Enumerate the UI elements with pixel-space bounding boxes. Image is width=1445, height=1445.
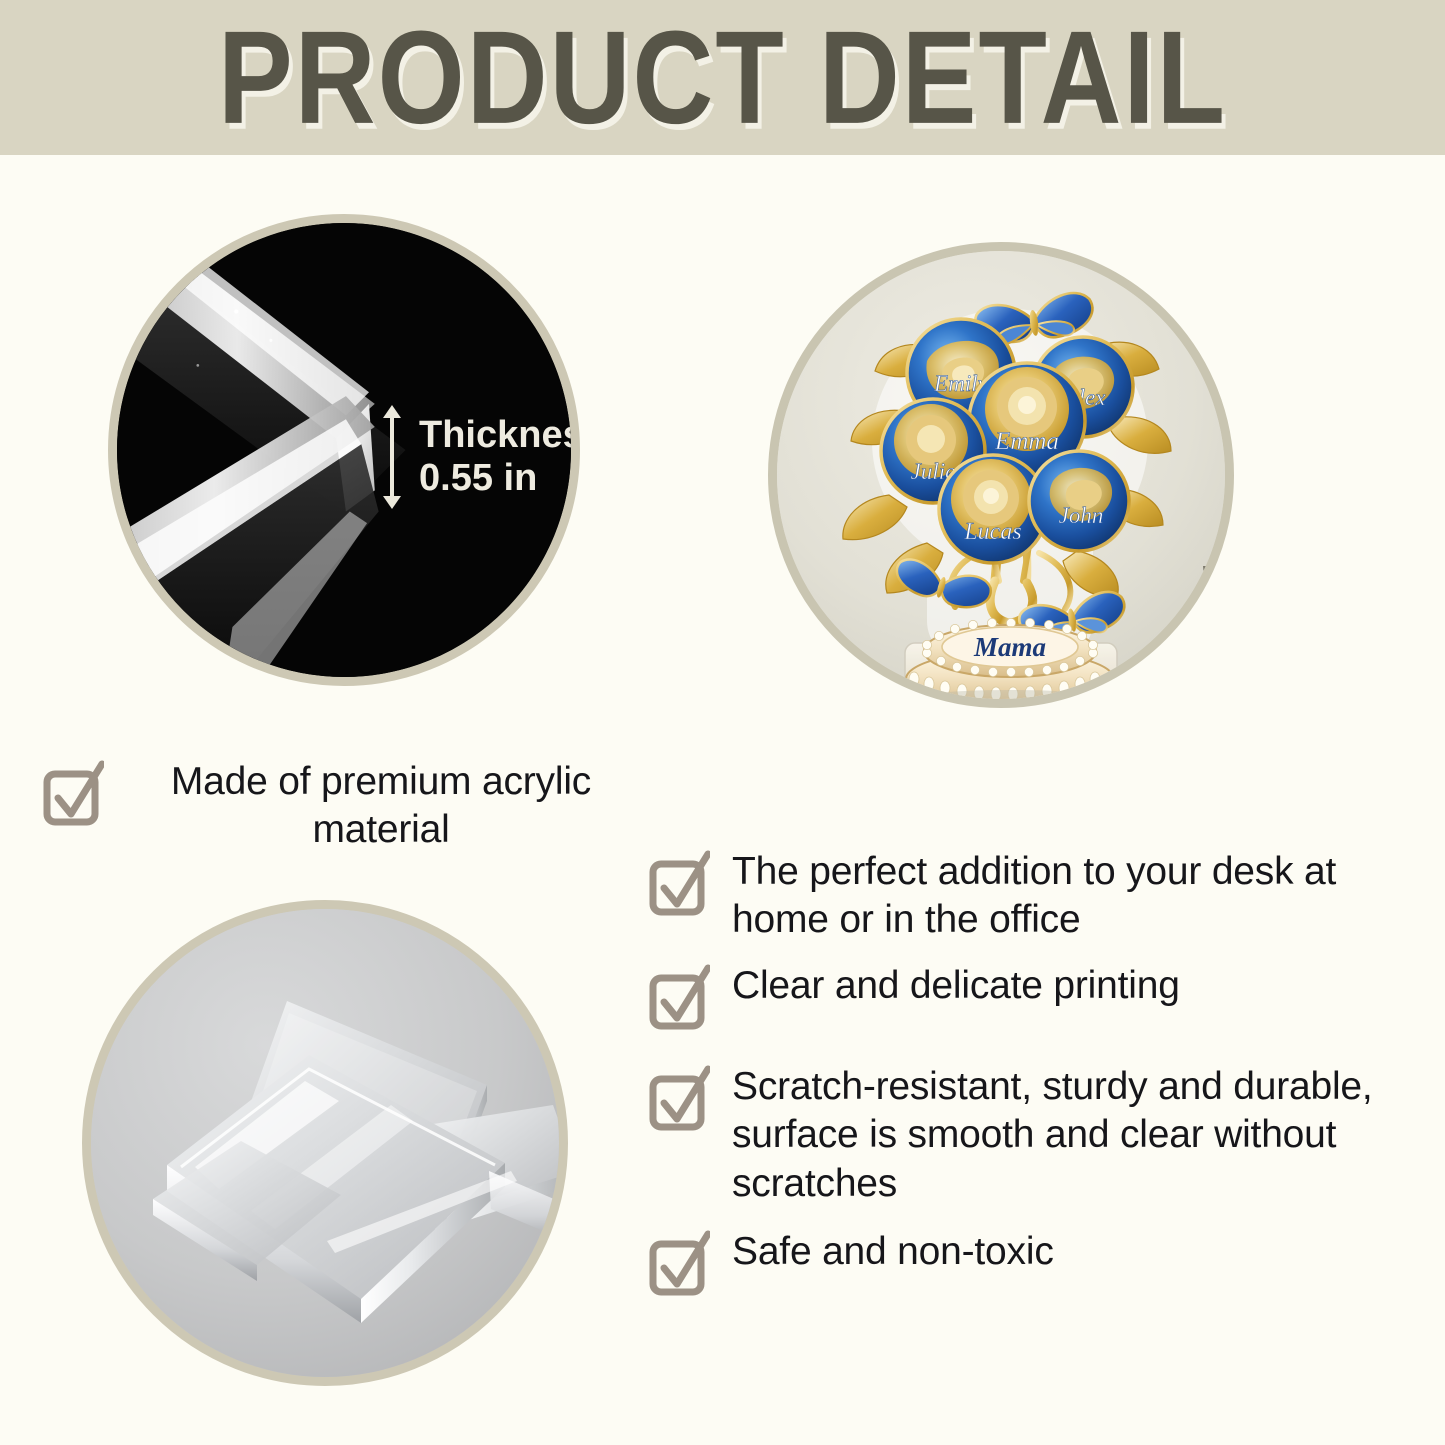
rose-name-lucas: Lucas (963, 519, 1021, 545)
product-photo: Emily Alex Emma Julie (768, 242, 1234, 708)
base-name-mama: Mama (973, 632, 1046, 662)
page-title: PRODUCT DETAIL (218, 11, 1227, 143)
thickness-callout: Thickness 0.55 in (379, 405, 580, 509)
header-band: PRODUCT DETAIL (0, 0, 1445, 155)
thickness-arrow-icon (379, 405, 405, 509)
bullet-item-printing: Clear and delicate printing (648, 962, 1418, 1034)
bullet-label-printing: Clear and delicate printing (732, 962, 1180, 1010)
rose-name-john: John (1059, 503, 1104, 528)
acrylic-sheets-photo (82, 900, 568, 1386)
bullet-item-desk: The perfect addition to your desk at hom… (648, 848, 1418, 945)
bullet-item-scratch: Scratch-resistant, sturdy and durable, s… (648, 1063, 1418, 1208)
thickness-label-line2: 0.55 in (419, 457, 580, 500)
plaque-edge-notch (1203, 566, 1217, 608)
bullet-label-desk: The perfect addition to your desk at hom… (732, 848, 1418, 945)
check-box-icon (648, 964, 710, 1034)
thickness-label-line1: Thickness (419, 414, 580, 457)
bullet-label-safe: Safe and non-toxic (732, 1228, 1054, 1276)
acrylic-sheets-illustration (91, 909, 568, 1386)
bullet-item-safe: Safe and non-toxic (648, 1228, 1418, 1300)
check-box-icon (42, 760, 104, 830)
check-box-icon (648, 1065, 710, 1135)
check-box-icon (648, 1230, 710, 1300)
bullet-item-material: Made of premium acrylic material (42, 758, 662, 855)
check-box-icon (648, 850, 710, 920)
thickness-label: Thickness 0.55 in (419, 414, 580, 499)
bullet-label-material: Made of premium acrylic material (126, 758, 636, 855)
rose-name-emma: Emma (994, 428, 1059, 455)
rose-john: John (1029, 451, 1129, 551)
thickness-closeup-photo: Thickness 0.55 in (108, 214, 580, 686)
rose-plaque-illustration: Emily Alex Emma Julie (777, 251, 1234, 708)
bullet-label-scratch: Scratch-resistant, sturdy and durable, s… (732, 1063, 1418, 1208)
